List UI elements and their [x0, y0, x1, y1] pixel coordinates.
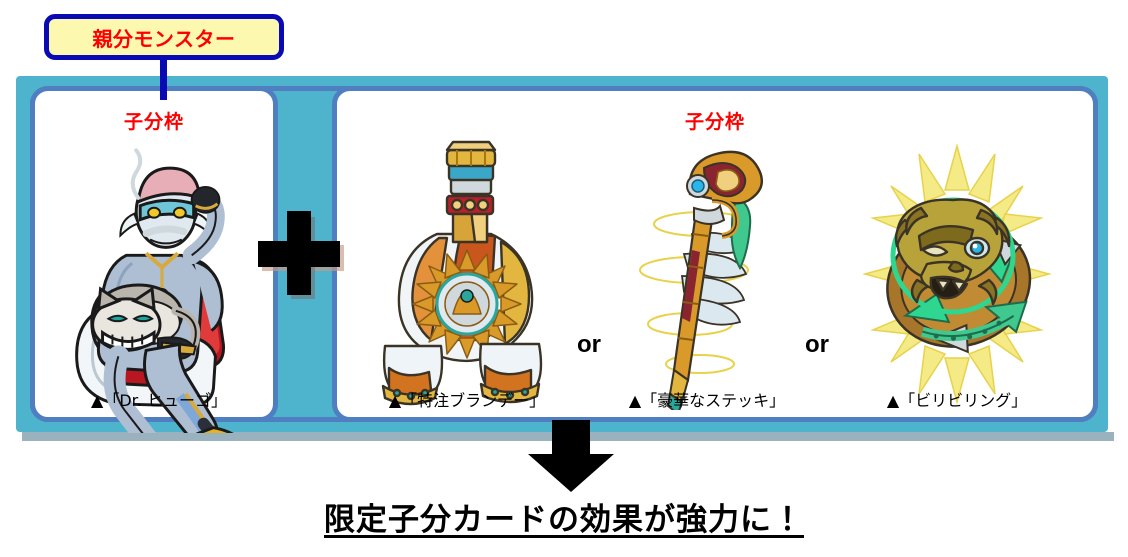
or-separator-1: or	[577, 331, 601, 359]
luxury-cane-art	[632, 139, 782, 409]
boss-monster-badge-label: 親分モンスター	[92, 23, 235, 52]
result-banner-text: 限定子分カードの効果が強力に！	[0, 494, 1128, 539]
down-arrow-icon	[516, 420, 626, 492]
biribiri-ring-art	[857, 139, 1057, 409]
minion-item-caption: ▲「ビリビリング」	[837, 387, 1077, 411]
minion-slot-heading: 子分枠	[337, 107, 1093, 134]
badge-connector-line	[160, 58, 167, 100]
or-separator-2: or	[805, 331, 829, 359]
boss-item-caption: ▲「Dr. ヒューゴ」	[43, 387, 275, 411]
minion-item-caption: ▲「豪華なステッキ」	[592, 387, 822, 411]
plus-operator-icon	[252, 205, 348, 305]
boss-monster-badge: 親分モンスター	[44, 14, 284, 60]
minion-slot-card[interactable]: 子分枠	[332, 86, 1098, 422]
boss-slot-card[interactable]: 子分枠	[30, 86, 278, 422]
minion-item-caption: ▲「特注ブランデー」	[347, 387, 587, 411]
boss-slot-heading: 子分枠	[35, 107, 273, 134]
custom-brandy-bottle-art	[377, 139, 557, 409]
